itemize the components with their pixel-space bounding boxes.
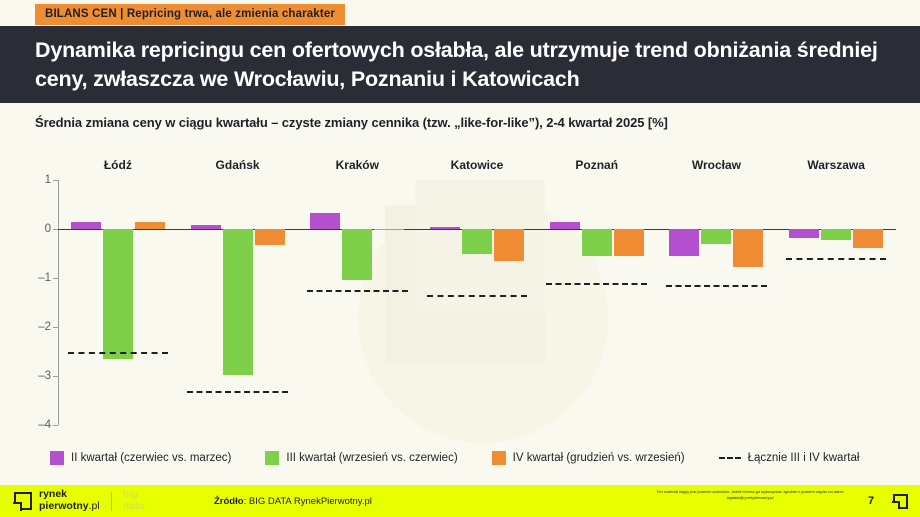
y-axis-label: –4 (38, 419, 51, 431)
chart-area: 10–1–2–3–4ŁódźGdańskKrakówKatowicePoznań… (0, 150, 920, 440)
legend-swatch-q3 (265, 451, 279, 465)
bar-Warszawa-s1 (821, 229, 851, 240)
bar-Poznań-s0 (550, 222, 580, 229)
legend-dash-icon (719, 457, 741, 459)
total-dashed-line-5 (666, 285, 767, 287)
legend-swatch-q2 (50, 451, 64, 465)
bigdata-line2: data (123, 500, 145, 512)
total-dashed-line-2 (307, 290, 408, 292)
bar-Katowice-s0 (430, 227, 460, 229)
bar-Łódź-s0 (71, 222, 101, 229)
bar-Gdańsk-s0 (191, 225, 221, 229)
bar-Wrocław-s0 (669, 229, 699, 256)
y-axis-tick (53, 376, 58, 377)
legend-label-q2: II kwartał (czerwiec vs. marzec) (71, 452, 231, 464)
y-axis-label: –2 (38, 321, 51, 333)
title-band: Dynamika repricingu cen ofertowych osłab… (0, 26, 920, 103)
kicker-badge: BILANS CEN | Repricing trwa, ale zmienia… (35, 4, 345, 25)
legend-label-q3: III kwartał (wrzesień vs. czerwiec) (286, 452, 457, 464)
bar-Gdańsk-s1 (223, 229, 253, 375)
legend-swatch-q4 (492, 451, 506, 465)
page-title: Dynamika repricingu cen ofertowych osłab… (0, 36, 920, 93)
chart-subtitle: Średnia zmiana ceny w ciągu kwartału – c… (35, 115, 668, 130)
y-axis-label: 1 (45, 174, 51, 186)
bigdata-logo: big data (123, 489, 145, 513)
legend-item-q4: IV kwartał (grudzień vs. wrzesień) (492, 451, 685, 465)
y-axis-tick (53, 278, 58, 279)
total-dashed-line-4 (546, 283, 647, 285)
brand-name: rynek pierwotny.pl (39, 489, 100, 513)
brand-logo[interactable]: rynek pierwotny.pl big data (0, 489, 144, 513)
plot-region: 10–1–2–3–4ŁódźGdańskKrakówKatowicePoznań… (58, 180, 896, 425)
y-axis (58, 180, 59, 425)
category-label-2: Kraków (336, 158, 379, 172)
bar-Katowice-s2 (494, 229, 524, 261)
brand-line2: pierwotny (39, 500, 89, 512)
legend-label-q4: IV kwartał (grudzień vs. wrzesień) (513, 452, 685, 464)
bar-Wrocław-s1 (701, 229, 731, 244)
bar-Kraków-s1 (342, 229, 372, 280)
legend-item-q2: II kwartał (czerwiec vs. marzec) (50, 451, 231, 465)
bar-Łódź-s1 (103, 229, 133, 359)
category-label-5: Wrocław (692, 158, 741, 172)
bar-Poznań-s1 (582, 229, 612, 256)
footer-bar: rynek pierwotny.pl big data Źródło: BIG … (0, 485, 920, 517)
bar-Warszawa-s2 (853, 229, 883, 248)
kicker-row: BILANS CEN | Repricing trwa, ale zmienia… (0, 0, 920, 26)
bar-Katowice-s1 (462, 229, 492, 254)
y-axis-label: –3 (38, 370, 51, 382)
bar-Kraków-s2 (374, 229, 404, 230)
total-dashed-line-3 (427, 295, 528, 297)
y-axis-label: –1 (38, 272, 51, 284)
bar-Łódź-s2 (135, 222, 165, 229)
bar-Kraków-s0 (310, 213, 340, 229)
total-dashed-line-6 (786, 258, 887, 260)
cube-icon (893, 494, 908, 509)
total-dashed-line-1 (187, 391, 288, 393)
bigdata-line1: big (123, 488, 139, 500)
source-prefix: Źródło (214, 496, 244, 507)
page-number: 7 (868, 495, 874, 507)
total-dashed-line-0 (68, 352, 169, 354)
brand-line1: rynek (39, 488, 67, 500)
cube-icon (14, 492, 32, 510)
y-axis-tick (53, 180, 58, 181)
brand-tld: .pl (89, 500, 100, 512)
source-text: : BIG DATA RynekPierwotny.pl (244, 496, 372, 507)
bar-Poznań-s2 (614, 229, 644, 256)
footer-logo-badge (884, 485, 916, 517)
y-axis-tick (53, 425, 58, 426)
legend-item-q3: III kwartał (wrzesień vs. czerwiec) (265, 451, 457, 465)
footer-divider (111, 492, 112, 511)
category-label-4: Poznań (575, 158, 618, 172)
category-label-6: Warszawa (807, 158, 865, 172)
bar-Gdańsk-s2 (255, 229, 285, 245)
category-label-1: Gdańsk (216, 158, 260, 172)
category-label-0: Łódź (104, 158, 132, 172)
y-axis-tick (53, 327, 58, 328)
chart-legend: II kwartał (czerwiec vs. marzec) III kwa… (0, 443, 920, 473)
bar-Warszawa-s0 (789, 229, 819, 238)
legend-label-total: Łącznie III i IV kwartał (748, 452, 860, 464)
source-note: Źródło: BIG DATA RynekPierwotny.pl (214, 496, 372, 507)
legend-item-total: Łącznie III i IV kwartał (719, 452, 860, 464)
category-label-3: Katowice (451, 158, 504, 172)
legal-note: Ten materiał objęty jest prawem autorski… (652, 489, 848, 501)
y-axis-label: 0 (45, 223, 51, 235)
bar-Wrocław-s2 (733, 229, 763, 267)
